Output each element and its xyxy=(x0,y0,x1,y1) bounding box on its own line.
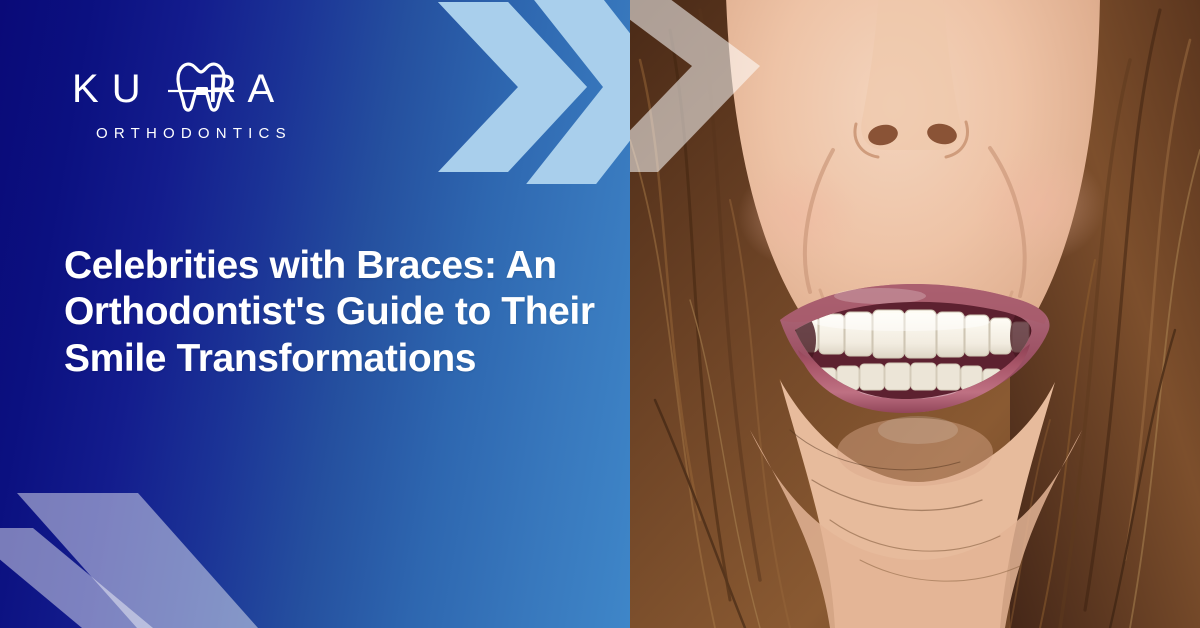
brand-logo[interactable]: K U R A ORTHODONTICS xyxy=(72,62,372,141)
hero-photo xyxy=(630,0,1200,628)
headline-text: Celebrities with Braces: An Orthodontist… xyxy=(64,244,595,380)
diagonal-stripe-decoration xyxy=(0,468,290,628)
chevron-right-decoration xyxy=(430,0,636,184)
tooth-with-bracket-icon xyxy=(168,59,234,117)
page-title: Celebrities with Braces: An Orthodontist… xyxy=(64,243,624,382)
logo-tagline: ORTHODONTICS xyxy=(96,126,372,141)
logo-letters-left: K U xyxy=(72,69,142,109)
left-gradient-panel: K U R A ORTHODONTICS Celebrities with Br… xyxy=(0,0,636,628)
logo-wordmark: K U R A xyxy=(72,62,308,116)
blog-featured-banner: K U R A ORTHODONTICS Celebrities with Br… xyxy=(0,0,1200,628)
